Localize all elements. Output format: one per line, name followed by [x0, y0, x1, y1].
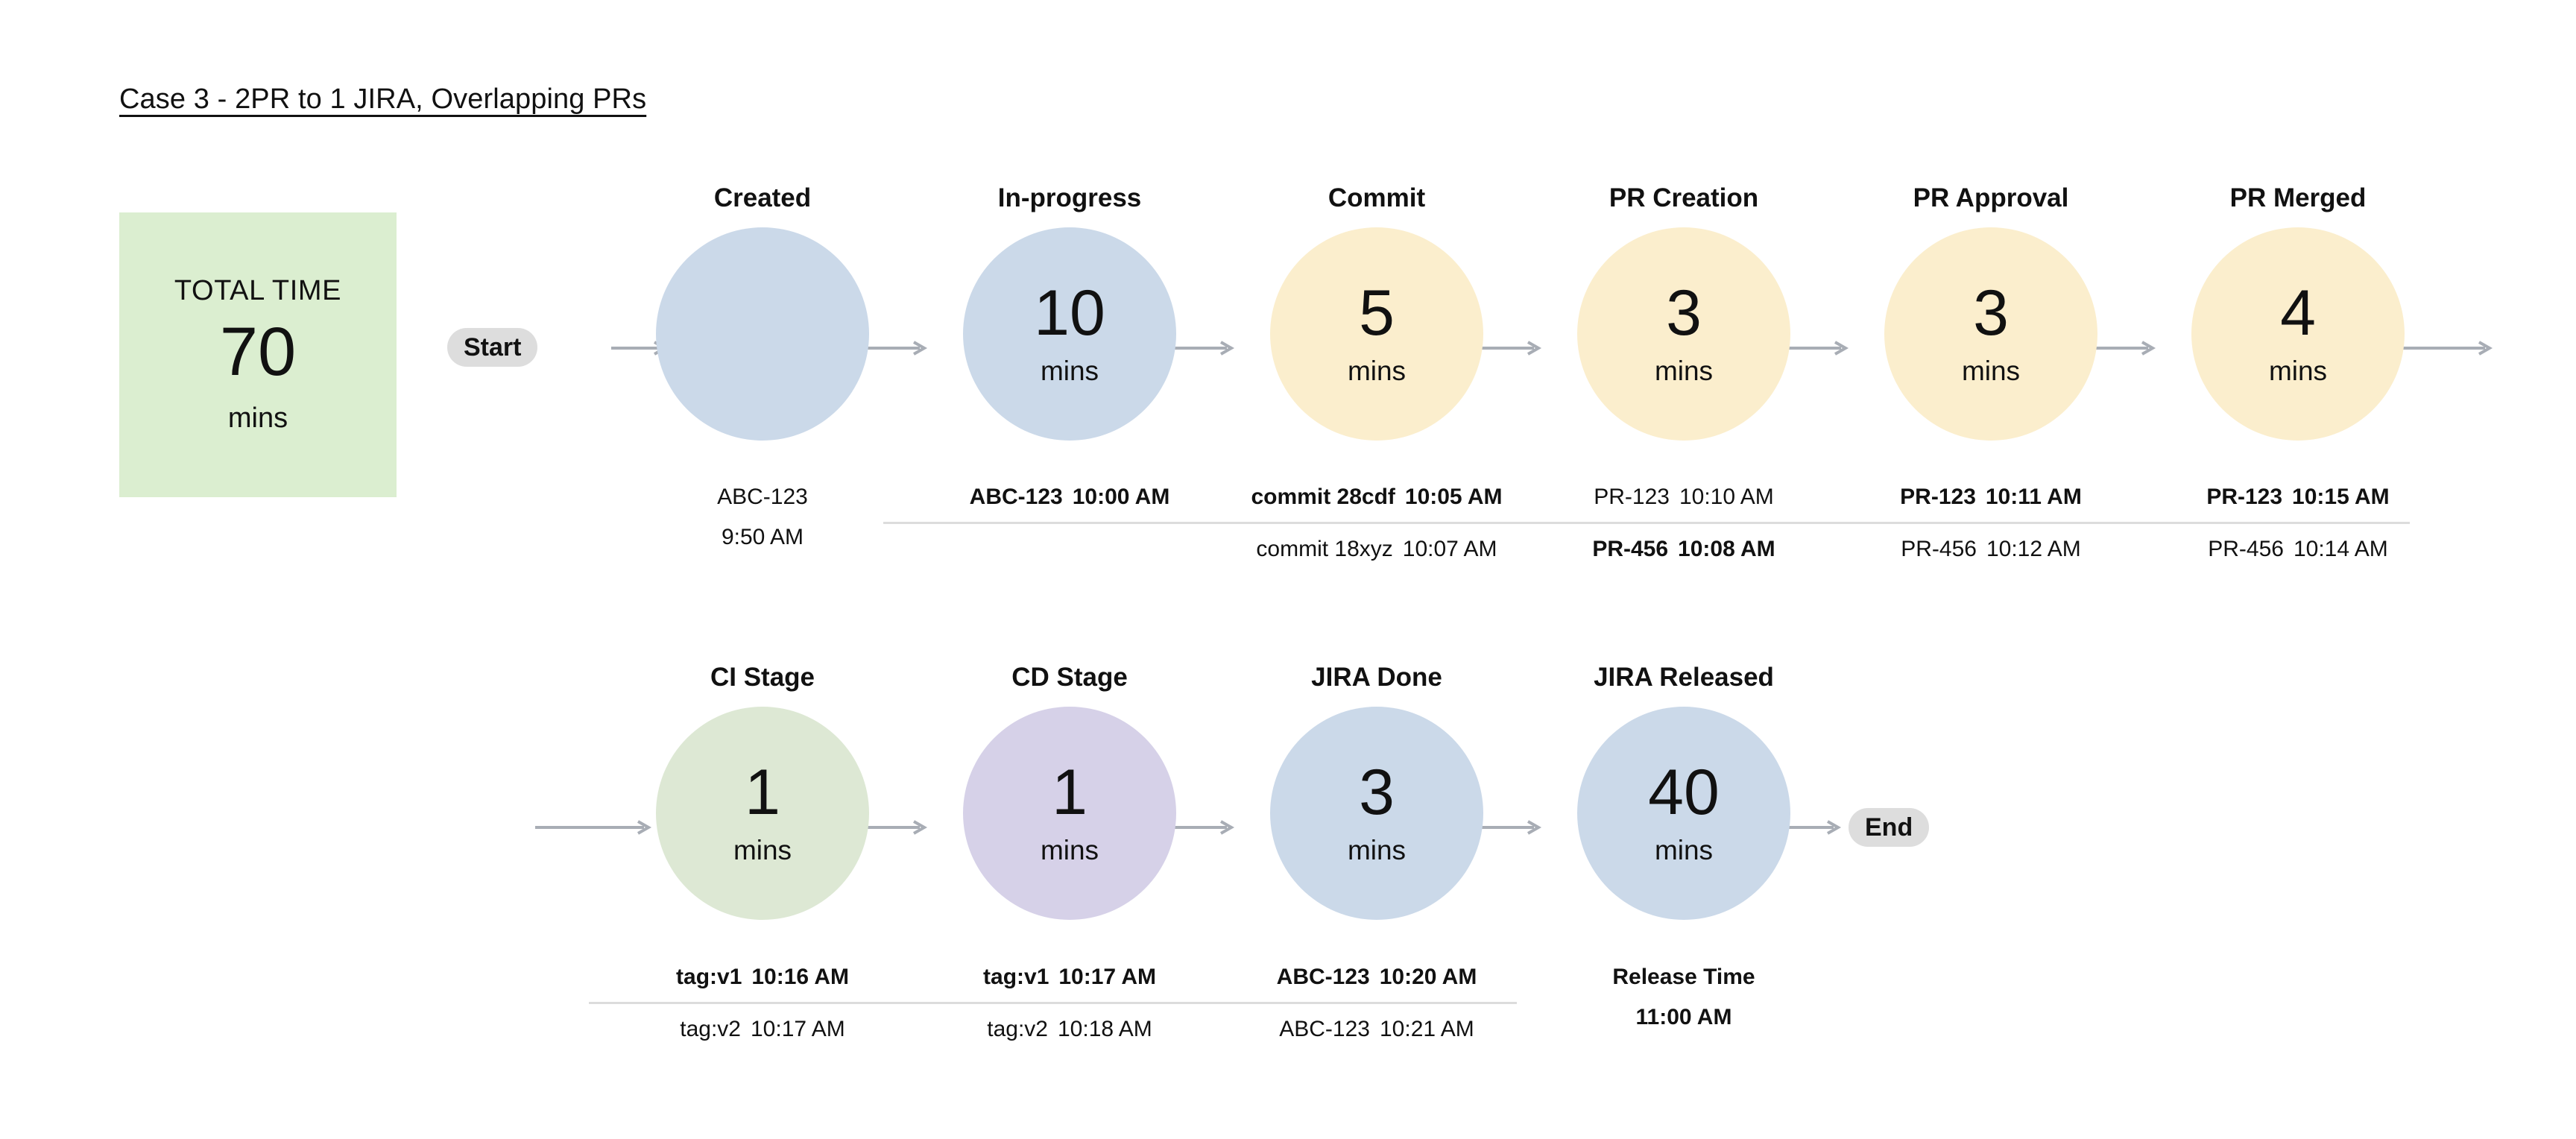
node-duration-value: 4 [2280, 281, 2316, 345]
node-duration-unit: mins [1041, 835, 1099, 866]
node-jira-done[interactable]: JIRA Done 3 mins [1254, 664, 1500, 920]
entry-time: 10:10 AM [1679, 485, 1774, 509]
node-duration-value: 3 [1973, 281, 2009, 345]
entry-prapproval-2: PR-45610:12 AM [1819, 538, 2162, 561]
node-pr-merged[interactable]: PR Merged 4 mins [2175, 185, 2421, 441]
node-circle: 3 mins [1270, 707, 1483, 920]
node-circle [656, 227, 869, 441]
entry-cdstage-2: tag:v210:18 AM [898, 1018, 1241, 1041]
entry-time: 10:11 AM [1986, 485, 2082, 509]
node-duration-unit: mins [1655, 356, 1713, 387]
start-marker[interactable]: Start [447, 328, 537, 367]
entry-time: 10:00 AM [1073, 485, 1170, 509]
entry-id: tag:v1 [676, 965, 742, 989]
node-header: JIRA Released [1561, 664, 1807, 690]
entry-id: ABC-123 [591, 486, 934, 508]
entry-id: PR-123 [1900, 485, 1976, 509]
entry-id: PR-456 [2208, 537, 2284, 561]
node-duration-value: 3 [1666, 281, 1702, 345]
entry-time: 10:12 AM [1986, 537, 2081, 561]
entry-prcreation-1: PR-12310:10 AM [1512, 486, 1855, 508]
total-time-card: TOTAL TIME 70 mins [119, 212, 397, 497]
entry-id: commit 28cdf [1251, 485, 1395, 509]
entry-id: Release Time [1512, 966, 1855, 988]
node-pr-approval[interactable]: PR Approval 3 mins [1868, 185, 2114, 441]
entry-time: 10:20 AM [1380, 965, 1477, 989]
entry-commit-2: commit 18xyz10:07 AM [1205, 538, 1548, 561]
entry-created-1: ABC-123 9:50 AM [591, 486, 934, 549]
node-circle: 5 mins [1270, 227, 1483, 441]
entry-prmerged-2: PR-45610:14 AM [2127, 538, 2469, 561]
node-ci-stage[interactable]: CI Stage 1 mins [640, 664, 885, 920]
entry-time: 10:21 AM [1380, 1017, 1474, 1041]
entry-id: ABC-123 [1279, 1017, 1370, 1041]
entry-id: PR-123 [2206, 485, 2282, 509]
entry-jirareleased-1: Release Time 11:00 AM [1512, 966, 1855, 1029]
node-duration-unit: mins [1041, 356, 1099, 387]
node-header: In-progress [947, 185, 1193, 211]
node-circle: 10 mins [963, 227, 1176, 441]
node-duration-unit: mins [1348, 835, 1406, 866]
entry-id: PR-456 [1901, 537, 1977, 561]
node-duration-unit: mins [1962, 356, 2020, 387]
node-header: PR Approval [1868, 185, 2114, 211]
entry-time: 10:17 AM [1058, 965, 1156, 989]
node-duration-value: 10 [1034, 281, 1105, 345]
end-marker[interactable]: End [1849, 808, 1929, 847]
node-pr-creation[interactable]: PR Creation 3 mins [1561, 185, 1807, 441]
entry-id: tag:v2 [680, 1017, 741, 1041]
total-time-label: TOTAL TIME [174, 275, 341, 307]
entry-prapproval-1: PR-12310:11 AM [1819, 486, 2162, 508]
entry-time: 10:16 AM [751, 965, 849, 989]
node-circle: 3 mins [1884, 227, 2097, 441]
node-circle: 1 mins [656, 707, 869, 920]
entry-time: 10:05 AM [1405, 485, 1503, 509]
entry-prcreation-2: PR-45610:08 AM [1512, 538, 1855, 561]
node-duration-unit: mins [733, 835, 792, 866]
node-duration-unit: mins [1348, 356, 1406, 387]
entry-commit-1: commit 28cdf10:05 AM [1205, 486, 1548, 508]
entry-divider-row1 [883, 522, 2410, 524]
node-duration-unit: mins [1655, 835, 1713, 866]
node-header: Commit [1254, 185, 1500, 211]
entry-cistage-1: tag:v110:16 AM [591, 966, 934, 988]
node-commit[interactable]: Commit 5 mins [1254, 185, 1500, 441]
node-duration-value: 1 [745, 760, 780, 824]
entry-time: 10:15 AM [2292, 485, 2390, 509]
entry-jiradone-1: ABC-12310:20 AM [1205, 966, 1548, 988]
page-title: Case 3 - 2PR to 1 JIRA, Overlapping PRs [119, 83, 646, 116]
entry-inprogress-1: ABC-12310:00 AM [898, 486, 1241, 508]
entry-time: 9:50 AM [591, 526, 934, 549]
node-duration-value: 3 [1359, 760, 1395, 824]
entry-id: PR-456 [1592, 537, 1668, 561]
node-header: JIRA Done [1254, 664, 1500, 690]
node-in-progress[interactable]: In-progress 10 mins [947, 185, 1193, 441]
node-header: PR Creation [1561, 185, 1807, 211]
entry-divider-row2 [589, 1002, 1517, 1004]
entry-time: 10:07 AM [1403, 537, 1497, 561]
node-circle: 40 mins [1577, 707, 1790, 920]
node-header: CI Stage [640, 664, 885, 690]
entry-time: 11:00 AM [1512, 1006, 1855, 1029]
node-circle: 1 mins [963, 707, 1176, 920]
total-time-value: 70 [220, 318, 296, 386]
entry-id: PR-123 [1594, 485, 1670, 509]
node-duration-value: 1 [1052, 760, 1087, 824]
node-header: Created [640, 185, 885, 211]
entry-id: ABC-123 [1277, 965, 1370, 989]
connector-rowbreak-cistage [535, 820, 654, 835]
entry-jiradone-2: ABC-12310:21 AM [1205, 1018, 1548, 1041]
entry-id: commit 18xyz [1256, 537, 1392, 561]
node-duration-unit: mins [2269, 356, 2327, 387]
node-duration-value: 40 [1648, 760, 1720, 824]
entry-cdstage-1: tag:v110:17 AM [898, 966, 1241, 988]
entry-cistage-2: tag:v210:17 AM [591, 1018, 934, 1041]
node-created[interactable]: Created [640, 185, 885, 441]
entry-time: 10:14 AM [2294, 537, 2388, 561]
entry-time: 10:08 AM [1678, 537, 1775, 561]
node-jira-released[interactable]: JIRA Released 40 mins [1561, 664, 1807, 920]
node-duration-value: 5 [1359, 281, 1395, 345]
node-header: CD Stage [947, 664, 1193, 690]
entry-id: ABC-123 [970, 485, 1063, 509]
entry-id: tag:v1 [983, 965, 1049, 989]
node-cd-stage[interactable]: CD Stage 1 mins [947, 664, 1193, 920]
entry-time: 10:17 AM [751, 1017, 845, 1041]
node-circle: 3 mins [1577, 227, 1790, 441]
entry-time: 10:18 AM [1058, 1017, 1152, 1041]
entry-prmerged-1: PR-12310:15 AM [2127, 486, 2469, 508]
total-time-unit: mins [228, 403, 288, 435]
node-circle: 4 mins [2191, 227, 2405, 441]
node-header: PR Merged [2175, 185, 2421, 211]
entry-id: tag:v2 [987, 1017, 1048, 1041]
